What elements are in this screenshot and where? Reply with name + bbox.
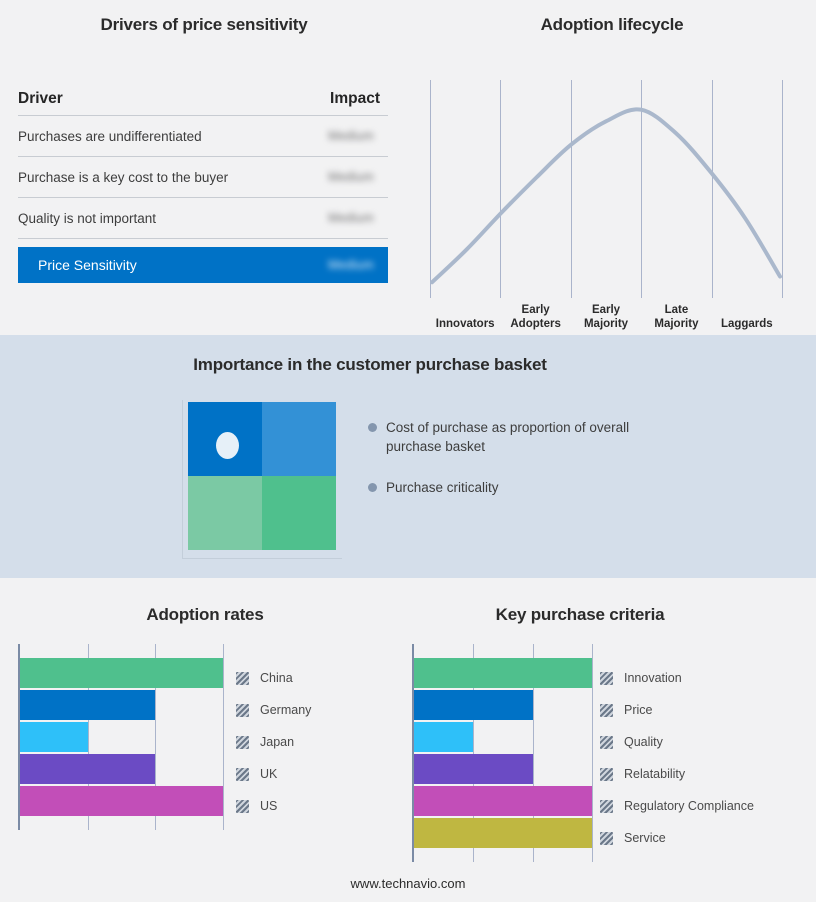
stage-label-line2: Laggards xyxy=(712,317,782,331)
gridline xyxy=(592,644,593,862)
stage-label-line2: Adopters xyxy=(500,317,570,331)
hatched-swatch-icon xyxy=(600,800,613,813)
legend-label: US xyxy=(260,799,277,813)
matrix-cell[interactable] xyxy=(188,476,262,550)
hatched-swatch-icon xyxy=(600,704,613,717)
bar[interactable] xyxy=(20,786,223,816)
legend-label: Quality xyxy=(624,735,663,749)
plot-area xyxy=(412,644,592,862)
legend-item-cost-of-purchase[interactable]: Cost of purchase as proportion of overal… xyxy=(368,418,668,456)
impact-value: Medium xyxy=(322,170,380,184)
legend-item[interactable]: Service xyxy=(600,822,754,854)
lifecycle-stage-label: Laggards xyxy=(712,287,782,333)
bullet-dot-icon xyxy=(368,423,377,432)
summary-impact-value: Medium xyxy=(322,258,380,272)
bar[interactable] xyxy=(414,818,592,848)
driver-label: Purchases are undifferentiated xyxy=(18,129,202,144)
lifecycle-stage-label: Innovators xyxy=(430,287,500,333)
legend-label: Germany xyxy=(260,703,311,717)
table-row[interactable]: Purchases are undifferentiated Medium xyxy=(18,116,388,157)
footer-url[interactable]: www.technavio.com xyxy=(0,876,816,891)
legend-label: Regulatory Compliance xyxy=(624,799,754,813)
legend-label: China xyxy=(260,671,293,685)
key-purchase-criteria-chart xyxy=(412,644,592,862)
matrix-y-axis xyxy=(182,400,183,558)
legend-item[interactable]: Regulatory Compliance xyxy=(600,790,754,822)
key-purchase-criteria-legend: InnovationPriceQualityRelatabilityRegula… xyxy=(600,662,754,854)
plot-area xyxy=(18,644,223,830)
gridline xyxy=(223,644,224,830)
stage-label-line1: Early xyxy=(500,303,570,317)
column-header-driver: Driver xyxy=(18,90,63,108)
legend-item[interactable]: Price xyxy=(600,694,754,726)
legend-item-purchase-criticality[interactable]: Purchase criticality xyxy=(368,478,668,497)
legend-label: Japan xyxy=(260,735,294,749)
legend-item[interactable]: UK xyxy=(236,758,311,790)
purchase-basket-matrix xyxy=(182,400,342,565)
hatched-swatch-icon xyxy=(236,704,249,717)
basket-panel-title: Importance in the customer purchase bask… xyxy=(0,355,740,375)
hatched-swatch-icon xyxy=(600,736,613,749)
infographic-page: Drivers of price sensitivity Driver Impa… xyxy=(0,0,816,902)
adoption-lifecycle-chart: InnovatorsEarlyAdoptersEarlyMajorityLate… xyxy=(430,80,782,310)
bar[interactable] xyxy=(20,690,155,720)
legend-label: Price xyxy=(624,703,652,717)
legend-label: Relatability xyxy=(624,767,685,781)
stage-label-line2: Majority xyxy=(641,317,711,331)
legend-item[interactable]: Relatability xyxy=(600,758,754,790)
price-sensitivity-summary-row[interactable]: Price Sensitivity Medium xyxy=(18,247,388,283)
lifecycle-stage-label: EarlyAdopters xyxy=(500,287,570,333)
criteria-panel-title: Key purchase criteria xyxy=(400,605,760,625)
hatched-swatch-icon xyxy=(600,768,613,781)
lifecycle-bell-curve xyxy=(430,80,782,298)
hatched-swatch-icon xyxy=(236,672,249,685)
bar[interactable] xyxy=(20,754,155,784)
legend-item[interactable]: US xyxy=(236,790,311,822)
summary-label: Price Sensitivity xyxy=(38,257,137,273)
legend-item[interactable]: Innovation xyxy=(600,662,754,694)
legend-label: Service xyxy=(624,831,666,845)
stage-label-line1: Late xyxy=(641,303,711,317)
driver-label: Quality is not important xyxy=(18,211,156,226)
bar[interactable] xyxy=(414,754,533,784)
impact-value: Medium xyxy=(322,211,380,225)
basket-legend: Cost of purchase as proportion of overal… xyxy=(368,418,668,519)
matrix-cell[interactable] xyxy=(262,476,336,550)
matrix-cell[interactable] xyxy=(262,402,336,476)
bullet-dot-icon xyxy=(368,483,377,492)
stage-label-line2: Majority xyxy=(571,317,641,331)
bar[interactable] xyxy=(414,786,592,816)
hatched-swatch-icon xyxy=(600,832,613,845)
stage-label-line2: Innovators xyxy=(430,317,500,331)
lifecycle-axis-labels: InnovatorsEarlyAdoptersEarlyMajorityLate… xyxy=(430,287,782,333)
driver-label: Purchase is a key cost to the buyer xyxy=(18,170,228,185)
lifecycle-stage-label: EarlyMajority xyxy=(571,287,641,333)
legend-label: Cost of purchase as proportion of overal… xyxy=(386,418,668,456)
column-header-impact: Impact xyxy=(330,90,380,108)
lifecycle-panel-title: Adoption lifecycle xyxy=(408,15,816,35)
bar[interactable] xyxy=(20,658,223,688)
legend-label: UK xyxy=(260,767,277,781)
legend-item[interactable]: Japan xyxy=(236,726,311,758)
adoption-rates-chart xyxy=(18,644,228,830)
adoption-rates-legend: ChinaGermanyJapanUKUS xyxy=(236,662,311,822)
drivers-table-header: Driver Impact xyxy=(18,90,388,116)
legend-item[interactable]: Germany xyxy=(236,694,311,726)
gridline xyxy=(782,80,783,298)
hatched-swatch-icon xyxy=(236,736,249,749)
hatched-swatch-icon xyxy=(236,800,249,813)
bar[interactable] xyxy=(414,658,592,688)
hatched-swatch-icon xyxy=(600,672,613,685)
bar[interactable] xyxy=(414,722,473,752)
impact-value: Medium xyxy=(322,129,380,143)
legend-label: Purchase criticality xyxy=(386,478,499,497)
legend-label: Innovation xyxy=(624,671,682,685)
drivers-table: Driver Impact Purchases are undifferenti… xyxy=(18,90,388,283)
drivers-panel-title: Drivers of price sensitivity xyxy=(0,15,408,35)
matrix-x-axis xyxy=(182,558,342,559)
matrix-cells xyxy=(188,402,336,550)
table-row[interactable]: Quality is not important Medium xyxy=(18,198,388,239)
table-row[interactable]: Purchase is a key cost to the buyer Medi… xyxy=(18,157,388,198)
bar[interactable] xyxy=(414,690,533,720)
legend-item[interactable]: China xyxy=(236,662,311,694)
lifecycle-stage-label: LateMajority xyxy=(641,287,711,333)
stage-label-line1: Early xyxy=(571,303,641,317)
legend-item[interactable]: Quality xyxy=(600,726,754,758)
adoption-rates-panel-title: Adoption rates xyxy=(0,605,410,625)
bar[interactable] xyxy=(20,722,88,752)
matrix-marker-dot xyxy=(216,432,239,459)
hatched-swatch-icon xyxy=(236,768,249,781)
